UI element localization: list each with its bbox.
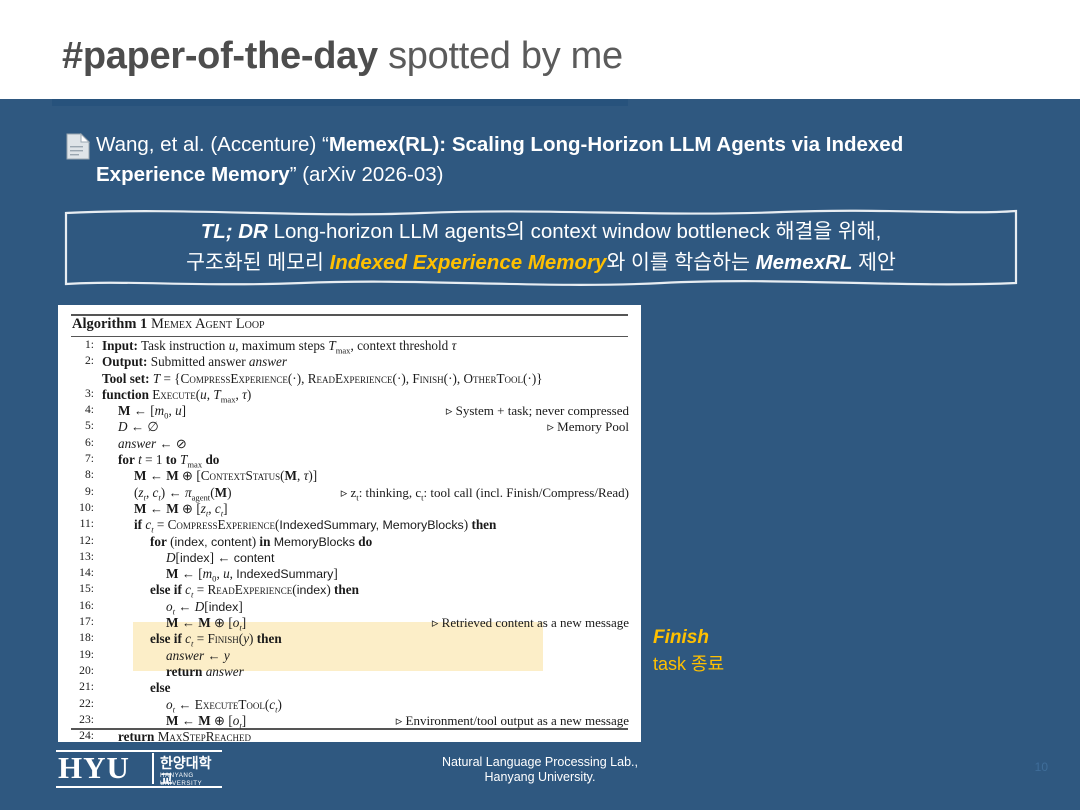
- algorithm-line-number: 7:: [72, 452, 94, 465]
- algorithm-line: 5:D ← ∅▹ Memory Pool: [58, 419, 641, 435]
- citation-suffix: ” (arXiv 2026-03): [290, 163, 444, 186]
- algorithm-line: 12:for (index, content) in MemoryBlocks …: [58, 534, 641, 550]
- algorithm-line-body: M ← M ⊕ [ContextStatus(M, τ)]: [102, 468, 317, 484]
- algorithm-line-body: M ← [m0, u]: [102, 403, 186, 421]
- algorithm-line: 1:Input: Task instruction u, maximum ste…: [58, 338, 641, 354]
- algorithm-line-body: else if ct = Finish(y) then: [102, 631, 282, 649]
- algorithm-line-body: else if ct = ReadExperience(index) then: [102, 582, 359, 600]
- footer-credit: Natural Language Processing Lab., Hanyan…: [0, 755, 1080, 785]
- algorithm-line-list: 1:Input: Task instruction u, maximum ste…: [58, 338, 641, 742]
- algorithm-line-body: Tool set: T = {CompressExperience(·), Re…: [102, 371, 543, 387]
- algorithm-line-number: 9:: [72, 485, 94, 498]
- slide: #paper-of-the-day spotted by me Wang, et…: [0, 0, 1080, 810]
- algorithm-caption-label: Algorithm 1: [72, 316, 147, 332]
- algorithm-line-number: 17:: [72, 615, 94, 628]
- algorithm-line: 6:answer ← ⊘: [58, 436, 641, 452]
- algorithm-line-number: 1:: [72, 338, 94, 351]
- algorithm-line: 21:else: [58, 680, 641, 696]
- title-underline-rule: [52, 99, 628, 106]
- tldr-method-name: MemexRL: [756, 251, 853, 274]
- footer-line-2: Hanyang University.: [0, 770, 1080, 785]
- algorithm-line-number: 4:: [72, 403, 94, 416]
- tldr-line2-a: 구조화된 메모리: [186, 251, 329, 274]
- algorithm-line-comment: ▹ zt: thinking, ct: tool call (incl. Fin…: [341, 485, 629, 503]
- algorithm-line-number: 6:: [72, 436, 94, 449]
- algorithm-line: 10:M ← M ⊕ [zt, ct]: [58, 501, 641, 517]
- tldr-callout: TL; DR Long-horizon LLM agents의 context …: [62, 205, 1020, 289]
- algorithm-line-number: 11:: [72, 517, 94, 530]
- algorithm-line-body: if ct = CompressExperience(IndexedSummar…: [102, 517, 496, 535]
- algorithm-line: 20:return answer: [58, 664, 641, 680]
- page-number: 10: [1035, 760, 1048, 774]
- tldr-line2-b: 와 이를 학습하는: [606, 251, 755, 274]
- algorithm-line: 16:ot ← D[index]: [58, 599, 641, 615]
- algorithm-line: 23:M ← M ⊕ [ot]▹ Environment/tool output…: [58, 713, 641, 729]
- annotation-title: Finish: [653, 625, 724, 651]
- algorithm-line: 14:M ← [m0, u, IndexedSummary]: [58, 566, 641, 582]
- algorithm-line-number: 2:: [72, 354, 94, 367]
- algorithm-line-body: answer ← ⊘: [102, 436, 187, 452]
- algorithm-line-number: 22:: [72, 697, 94, 710]
- algorithm-line-number: 10:: [72, 501, 94, 514]
- algorithm-line: 3:function Execute(u, Tmax, τ): [58, 387, 641, 403]
- annotation-subtitle: task 종료: [653, 651, 724, 677]
- algorithm-caption: Algorithm 1 Memex Agent Loop: [72, 316, 265, 333]
- algorithm-line-body: M ← [m0, u, IndexedSummary]: [102, 566, 338, 584]
- algorithm-line-number: 19:: [72, 648, 94, 661]
- algorithm-line: Tool set: T = {CompressExperience(·), Re…: [58, 371, 641, 387]
- algorithm-line-body: for (index, content) in MemoryBlocks do: [102, 534, 372, 550]
- algorithm-line: 9:(zt, ct) ← πagent(M)▹ zt: thinking, ct…: [58, 485, 641, 501]
- algorithm-line-number: 24:: [72, 729, 94, 742]
- algorithm-line-body: M ← M ⊕ [ot]: [102, 615, 246, 633]
- algorithm-line-body: ot ← D[index]: [102, 599, 243, 617]
- finish-annotation: Finish task 종료: [653, 625, 724, 677]
- page-title: #paper-of-the-day spotted by me: [62, 36, 623, 78]
- algorithm-rule-middle: [71, 336, 628, 337]
- algorithm-line-comment: ▹ Environment/tool output as a new messa…: [396, 713, 629, 729]
- algorithm-caption-name: Memex Agent Loop: [151, 316, 265, 332]
- tldr-text: TL; DR Long-horizon LLM agents의 context …: [82, 216, 1000, 278]
- algorithm-line-number: 5:: [72, 419, 94, 432]
- algorithm-line-number: 21:: [72, 680, 94, 693]
- algorithm-line-body: answer ← y: [102, 648, 230, 664]
- algorithm-line-comment: ▹ Retrieved content as a new message: [432, 615, 629, 631]
- algorithm-figure: Algorithm 1 Memex Agent Loop 1:Input: Ta…: [58, 305, 641, 742]
- algorithm-line-number: 20:: [72, 664, 94, 677]
- algorithm-line: 7:for t = 1 to Tmax do: [58, 452, 641, 468]
- algorithm-line: 19:answer ← y: [58, 648, 641, 664]
- footer-line-1: Natural Language Processing Lab.,: [0, 755, 1080, 770]
- algorithm-line-number: 8:: [72, 468, 94, 481]
- page-title-hashtag: #paper-of-the-day: [62, 35, 378, 77]
- document-icon: [66, 133, 90, 160]
- algorithm-line-body: function Execute(u, Tmax, τ): [102, 387, 251, 405]
- algorithm-line-body: return answer: [102, 664, 244, 680]
- algorithm-line-body: else: [102, 680, 171, 696]
- algorithm-line-body: for t = 1 to Tmax do: [102, 452, 219, 470]
- tldr-line2-c: 제안: [852, 251, 895, 274]
- algorithm-line-body: return MaxStepReached: [102, 729, 251, 742]
- algorithm-line-number: 12:: [72, 534, 94, 547]
- algorithm-line-number: 3:: [72, 387, 94, 400]
- algorithm-line: 11:if ct = CompressExperience(IndexedSum…: [58, 517, 641, 533]
- algorithm-line: 24:return MaxStepReached: [58, 729, 641, 742]
- algorithm-line-body: M ← M ⊕ [zt, ct]: [102, 501, 228, 519]
- algorithm-line: 8:M ← M ⊕ [ContextStatus(M, τ)]: [58, 468, 641, 484]
- algorithm-line: 13:D[index] ← content: [58, 550, 641, 566]
- algorithm-line-body: D ← ∅: [102, 419, 159, 435]
- algorithm-line-comment: ▹ System + task; never compressed: [446, 403, 629, 419]
- algorithm-line: 2:Output: Submitted answer answer: [58, 354, 641, 370]
- tldr-highlight-term: Indexed Experience Memory: [330, 251, 607, 274]
- algorithm-line-comment: ▹ Memory Pool: [547, 419, 629, 435]
- algorithm-line-number: 14:: [72, 566, 94, 579]
- algorithm-line: 17:M ← M ⊕ [ot]▹ Retrieved content as a …: [58, 615, 641, 631]
- algorithm-line: 22:ot ← ExecuteTool(ct): [58, 697, 641, 713]
- algorithm-line: 15:else if ct = ReadExperience(index) th…: [58, 582, 641, 598]
- tldr-line1: Long-horizon LLM agents의 context window …: [268, 220, 881, 243]
- algorithm-line-body: Output: Submitted answer answer: [102, 354, 287, 370]
- algorithm-line-body: M ← M ⊕ [ot]: [102, 713, 246, 731]
- algorithm-line-number: 18:: [72, 631, 94, 644]
- algorithm-line-body: D[index] ← content: [102, 550, 274, 566]
- citation-prefix: Wang, et al. (Accenture) “: [96, 133, 329, 156]
- algorithm-line-body: ot ← ExecuteTool(ct): [102, 697, 282, 715]
- algorithm-line-number: 23:: [72, 713, 94, 726]
- algorithm-line-number: 13:: [72, 550, 94, 563]
- algorithm-line-body: Input: Task instruction u, maximum steps…: [102, 338, 456, 356]
- algorithm-line-number: 16:: [72, 599, 94, 612]
- algorithm-line: 4:M ← [m0, u]▹ System + task; never comp…: [58, 403, 641, 419]
- algorithm-line-number: 15:: [72, 582, 94, 595]
- algorithm-line: 18:else if ct = Finish(y) then: [58, 631, 641, 647]
- citation-text: Wang, et al. (Accenture) “Memex(RL): Sca…: [96, 130, 976, 190]
- page-title-rest: spotted by me: [378, 35, 623, 77]
- algorithm-line-body: (zt, ct) ← πagent(M): [102, 485, 231, 503]
- tldr-label: TL; DR: [201, 220, 268, 243]
